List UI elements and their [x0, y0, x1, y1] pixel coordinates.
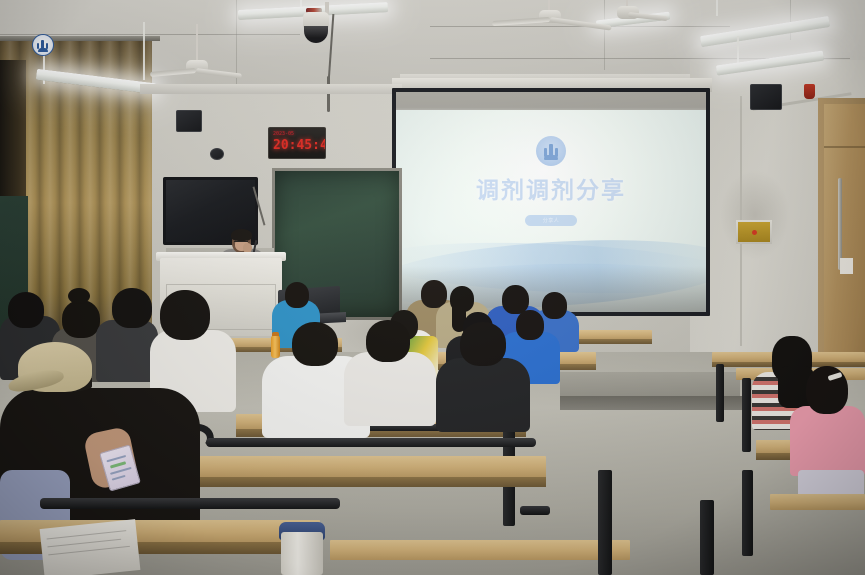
clock-time: 20:45:44: [273, 138, 321, 153]
white-thermos: [281, 532, 323, 575]
desk-rail: [40, 498, 340, 509]
student-desk: [770, 494, 865, 510]
door-panel-line: [824, 146, 865, 148]
wall-speaker: [750, 84, 782, 110]
ceiling-seam: [604, 0, 605, 70]
university-emblem-icon: [536, 136, 566, 166]
wall-stain: [720, 170, 790, 260]
student-head: [292, 322, 338, 366]
student-desk: [330, 540, 630, 560]
student-pink-shirt-right: [790, 406, 865, 476]
university-logo-icon: [32, 34, 54, 56]
wall-speaker: [210, 148, 224, 160]
light-hanger: [716, 0, 718, 16]
desk-leg: [742, 470, 753, 556]
slide-subtitle-pill: 分享人: [525, 215, 577, 226]
clock-date: 2023-05: [273, 131, 321, 137]
student-head: [542, 292, 567, 319]
desk-leg: [716, 364, 724, 422]
ceiling-fan-rod: [196, 24, 198, 62]
desk-edge: [150, 477, 546, 487]
student-black-tshirt-center: [436, 358, 530, 432]
desk-leg: [700, 500, 714, 575]
desk-leg: [742, 378, 751, 452]
student-head: [516, 310, 544, 340]
hanging-cable: [327, 76, 330, 112]
presenter-hair: [231, 229, 252, 241]
desk-rail: [206, 438, 536, 447]
student-white-shirt-right: [344, 352, 436, 426]
ceiling-seam: [790, 0, 791, 40]
hair-bun: [68, 288, 90, 304]
light-hanger: [143, 22, 145, 80]
door-notice: [840, 258, 853, 274]
student-head: [62, 300, 100, 338]
fire-alarm: [804, 84, 815, 99]
stack-of-papers: [40, 519, 141, 575]
projection-screen-surface: 调剂调剂分享 分享人: [396, 92, 706, 312]
student-head: [285, 282, 309, 308]
student-head: [806, 366, 848, 414]
curtain-rail: [0, 36, 160, 41]
door-handle[interactable]: [838, 178, 842, 270]
sign-indicator: [752, 230, 757, 235]
student-back-row-left: [96, 320, 158, 382]
screen-rail: [140, 84, 402, 94]
student-head: [460, 322, 506, 366]
wall-sign-face: [738, 222, 770, 242]
student-head: [112, 288, 152, 328]
wall-sign: [736, 220, 772, 244]
desk-foot: [520, 506, 550, 515]
student-desk: [150, 456, 546, 478]
front-platform-edge: [560, 396, 742, 410]
student-head: [366, 320, 410, 362]
wall-speaker: [176, 110, 202, 132]
desk-leg: [598, 470, 612, 575]
student-head: [160, 290, 210, 340]
classroom-door[interactable]: [824, 104, 865, 360]
student-head: [8, 292, 44, 328]
slide-title: 调剂调剂分享: [396, 171, 706, 205]
classroom-photo: 调剂调剂分享 分享人 2023-05 20:45:44: [0, 0, 865, 575]
orange-drink-bottle: [271, 336, 280, 358]
led-clock: 2023-05 20:45:44: [268, 127, 326, 159]
